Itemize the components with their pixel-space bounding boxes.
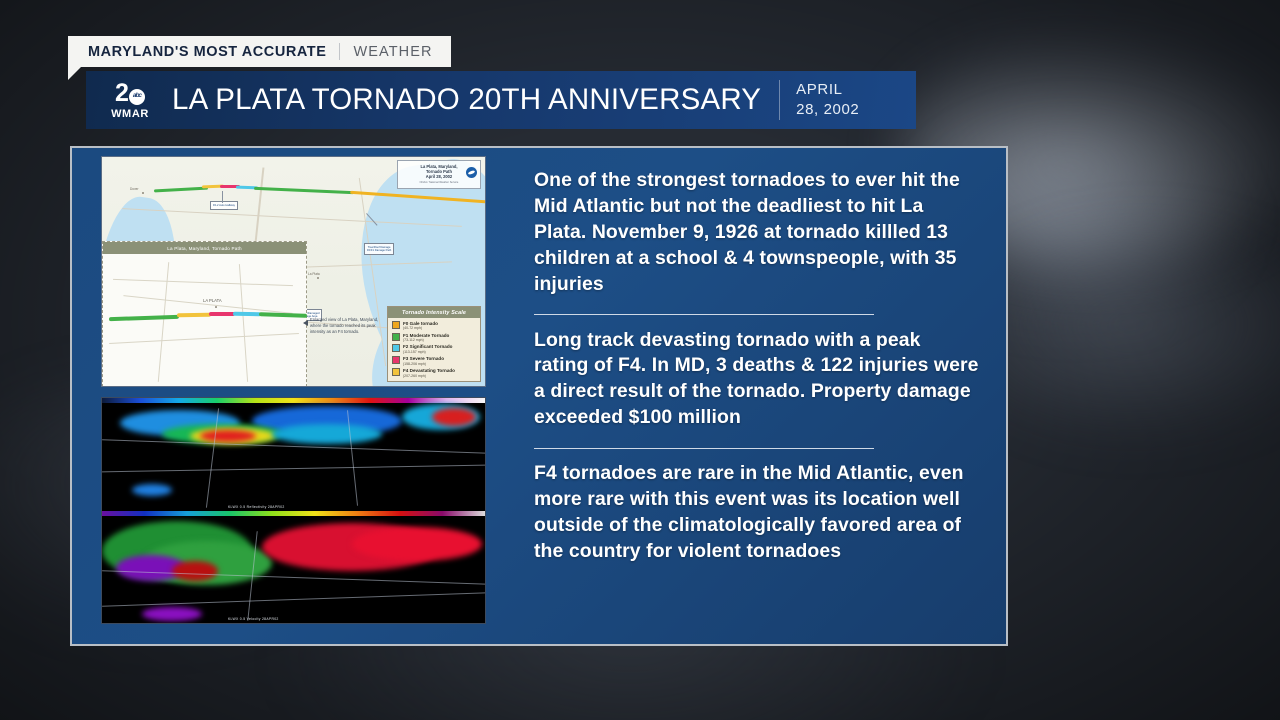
fact-paragraph-2: Long track devasting tornado with a peak… xyxy=(534,328,980,432)
content-panel: Dover Laurel Waldorf La Plata Lower Marl… xyxy=(70,146,1008,646)
legend-row: F2 Significant Tornado (113-157 mph) xyxy=(388,342,480,354)
inset-track-f3 xyxy=(209,312,235,316)
damage-annotation: Tree/Roof DamageF0/F1 Damage Path xyxy=(364,243,394,255)
legend-label: F4 Devastating Tornado xyxy=(403,368,455,373)
reflectivity-color-bar xyxy=(102,398,485,403)
logo-number: 2 xyxy=(115,81,128,106)
legend-row: F1 Moderate Tornado (73-112 mph) xyxy=(388,330,480,342)
legend-swatch-f3 xyxy=(392,356,400,364)
map-inset: La Plata, Maryland, Tornado Path LA PLAT… xyxy=(102,241,307,387)
radar-reflectivity-panel: KLWX 0.5 Reflectivity 28APR02 xyxy=(102,398,485,511)
logo-callsign: WMAR xyxy=(111,108,149,120)
legend-text: F2 Significant Tornado (113-157 mph) xyxy=(403,344,452,354)
section-label: WEATHER xyxy=(353,44,432,60)
map-title-box: La Plata, Maryland, Tornado Path April 2… xyxy=(397,160,481,189)
event-date: APRIL 28, 2002 xyxy=(796,80,859,121)
annotation-leader xyxy=(222,191,223,203)
radar-velocity-echo xyxy=(172,561,218,581)
inset-track-f1 xyxy=(109,315,179,321)
legend-swatch-f0 xyxy=(392,321,400,329)
radar-velocity-echo xyxy=(142,607,202,621)
radar-echo xyxy=(132,484,172,496)
radar-imagery: KLWX 0.5 Reflectivity 28APR02 KLWX 0.5 V… xyxy=(101,397,486,624)
inset-track-f2 xyxy=(233,312,261,316)
legend-swatch-f4 xyxy=(392,368,400,376)
legend-range: (113-157 mph) xyxy=(403,350,452,354)
legend-range: (207-260 mph) xyxy=(403,374,455,378)
text-divider xyxy=(534,314,874,315)
title-bar: 2 abc WMAR LA PLATA TORNADO 20TH ANNIVER… xyxy=(86,71,916,129)
legend-text: F3 Severe Tornado (158-206 mph) xyxy=(403,356,444,366)
legend-text: F4 Devastating Tornado (207-260 mph) xyxy=(403,368,455,378)
inset-road xyxy=(113,279,293,286)
legend-label: F3 Severe Tornado xyxy=(403,356,444,361)
legend-row: F4 Devastating Tornado (207-260 mph) xyxy=(388,366,480,381)
velocity-color-bar xyxy=(102,511,485,516)
inset-city-label: LA PLATA xyxy=(203,298,222,303)
legend-swatch-f2 xyxy=(392,344,400,352)
fact-paragraph-1: One of the strongest tornadoes to ever h… xyxy=(534,168,980,298)
radar-county-line xyxy=(102,592,485,606)
radar-velocity-panel: KLWX 0.5 Velocity 28APR02 xyxy=(102,511,485,624)
inset-road xyxy=(109,333,299,344)
tornado-intensity-legend: Tornado Intensity Scale F0 Gale tornado … xyxy=(387,306,481,382)
radar-bottom-stamp: KLWX 0.5 Velocity 28APR02 xyxy=(228,617,279,621)
ribbon-tail xyxy=(68,67,81,80)
legend-text: F0 Gale tornado (40-72 mph) xyxy=(403,321,438,331)
inset-caption-arrow xyxy=(303,320,308,326)
legend-range: (158-206 mph) xyxy=(403,362,444,366)
ribbon-divider xyxy=(339,43,340,60)
radar-velocity-echo xyxy=(352,527,482,561)
inset-road xyxy=(239,264,248,382)
map-title-line3: April 28, 2002 xyxy=(402,174,476,179)
map-title-credit: NOAA / National Weather Service xyxy=(402,181,476,184)
event-date-month: APRIL xyxy=(796,80,859,100)
title-divider xyxy=(779,80,780,120)
abc-network-icon: abc xyxy=(129,89,145,105)
inset-track-f4 xyxy=(177,313,211,318)
text-divider xyxy=(534,448,874,449)
logo-number-group: 2 abc xyxy=(115,81,145,106)
map-city-dot xyxy=(142,192,144,194)
noaa-logo-icon xyxy=(466,167,477,178)
legend-range: (73-112 mph) xyxy=(403,338,449,342)
brand-slogan: MARYLAND'S MOST ACCURATE xyxy=(88,44,326,60)
radar-top-stamp: KLWX 0.5 Reflectivity 28APR02 xyxy=(228,505,285,509)
media-column: Dover Laurel Waldorf La Plata Lower Marl… xyxy=(101,156,486,624)
map-city-dot xyxy=(317,277,319,279)
event-date-day-year: 28, 2002 xyxy=(796,100,859,120)
wmar-logo: 2 abc WMAR xyxy=(96,81,164,120)
radar-county-line xyxy=(102,465,485,472)
map-inset-header: La Plata, Maryland, Tornado Path xyxy=(103,242,306,254)
fact-text-column: One of the strongest tornadoes to ever h… xyxy=(534,168,980,565)
inset-caption: Enlarged view of La Plata, Maryland, whe… xyxy=(310,317,380,335)
legend-text: F1 Moderate Tornado (73-112 mph) xyxy=(403,333,449,343)
inset-city-dot xyxy=(215,306,217,308)
tornado-path-map: Dover Laurel Waldorf La Plata Lower Marl… xyxy=(101,156,486,387)
legend-range: (40-72 mph) xyxy=(403,326,438,330)
radar-echo xyxy=(200,430,256,442)
fact-paragraph-3: F4 tornadoes are rare in the Mid Atlanti… xyxy=(534,461,980,565)
brand-ribbon: MARYLAND'S MOST ACCURATE WEATHER xyxy=(68,36,451,67)
legend-row: F3 Severe Tornado (158-206 mph) xyxy=(388,354,480,366)
legend-swatch-f1 xyxy=(392,333,400,341)
legend-label: F1 Moderate Tornado xyxy=(403,333,449,338)
radar-echo xyxy=(432,408,476,426)
legend-label: F0 Gale tornado xyxy=(403,321,438,326)
map-place-label: La Plata xyxy=(308,272,320,276)
map-place-label: Dover xyxy=(130,187,139,191)
legend-title: Tornado Intensity Scale xyxy=(388,307,480,318)
legend-label: F2 Significant Tornado xyxy=(403,344,452,349)
page-title: LA PLATA TORNADO 20TH ANNIVERSARY xyxy=(172,83,761,117)
radar-echo xyxy=(272,424,382,444)
legend-row: F0 Gale tornado (40-72 mph) xyxy=(388,318,480,330)
inset-track-f1 xyxy=(259,312,307,318)
damage-annotation: F0-2 Auto Halfway xyxy=(210,201,238,210)
